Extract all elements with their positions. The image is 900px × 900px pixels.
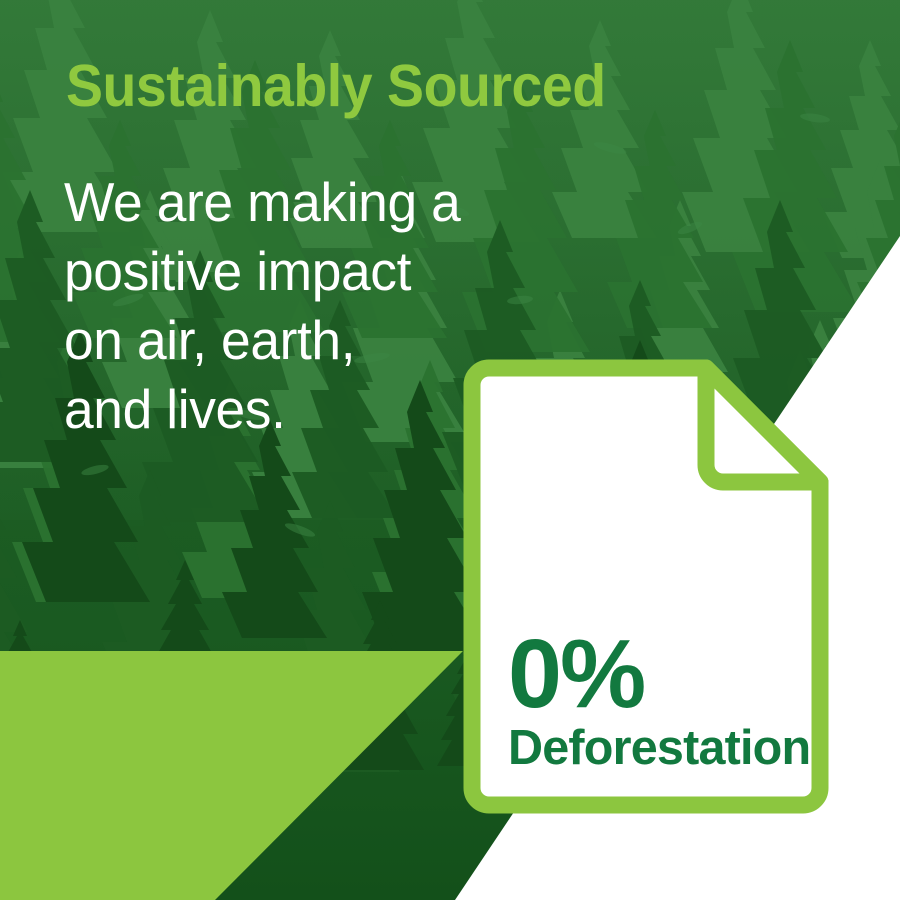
deforestation-stat: 0% Deforestation	[508, 629, 813, 773]
tagline-line-3: on air, earth,	[64, 306, 460, 375]
stat-label: Deforestation	[508, 724, 810, 773]
tagline-text: We are making a positive impact on air, …	[64, 168, 460, 444]
poster-canvas: Sustainably Sourced We are making a posi…	[0, 0, 900, 900]
page-title: Sustainably Sourced	[66, 57, 606, 116]
tagline-line-2: positive impact	[64, 237, 460, 306]
stat-value: 0%	[508, 629, 813, 718]
tagline-line-1: We are making a	[64, 168, 460, 237]
light-green-band	[0, 651, 463, 900]
tagline-line-4: and lives.	[64, 375, 460, 444]
